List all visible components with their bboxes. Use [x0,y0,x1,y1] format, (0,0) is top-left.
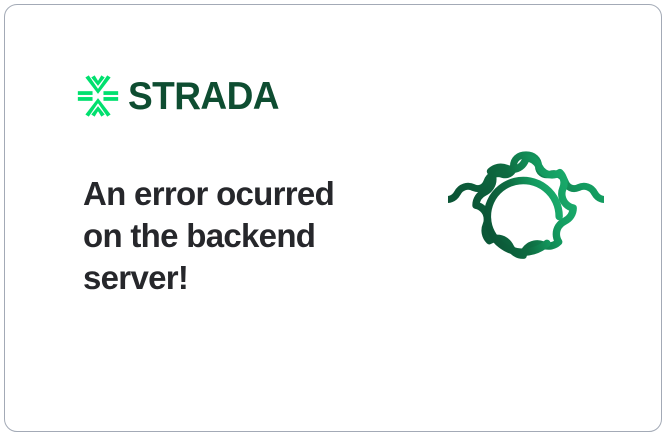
error-card: STRADA An error ocurred on the backend s… [4,4,662,432]
screen-root: STRADA An error ocurred on the backend s… [0,0,666,436]
brand-wordmark: STRADA [128,77,279,116]
strada-asterisk-icon [77,75,119,117]
error-message-text: An error ocurred on the backend server! [83,175,334,296]
error-message: An error ocurred on the backend server! [83,173,373,299]
gear-illustration [448,144,604,300]
gear-outline-icon [448,144,604,300]
brand-lockup: STRADA [77,75,287,117]
